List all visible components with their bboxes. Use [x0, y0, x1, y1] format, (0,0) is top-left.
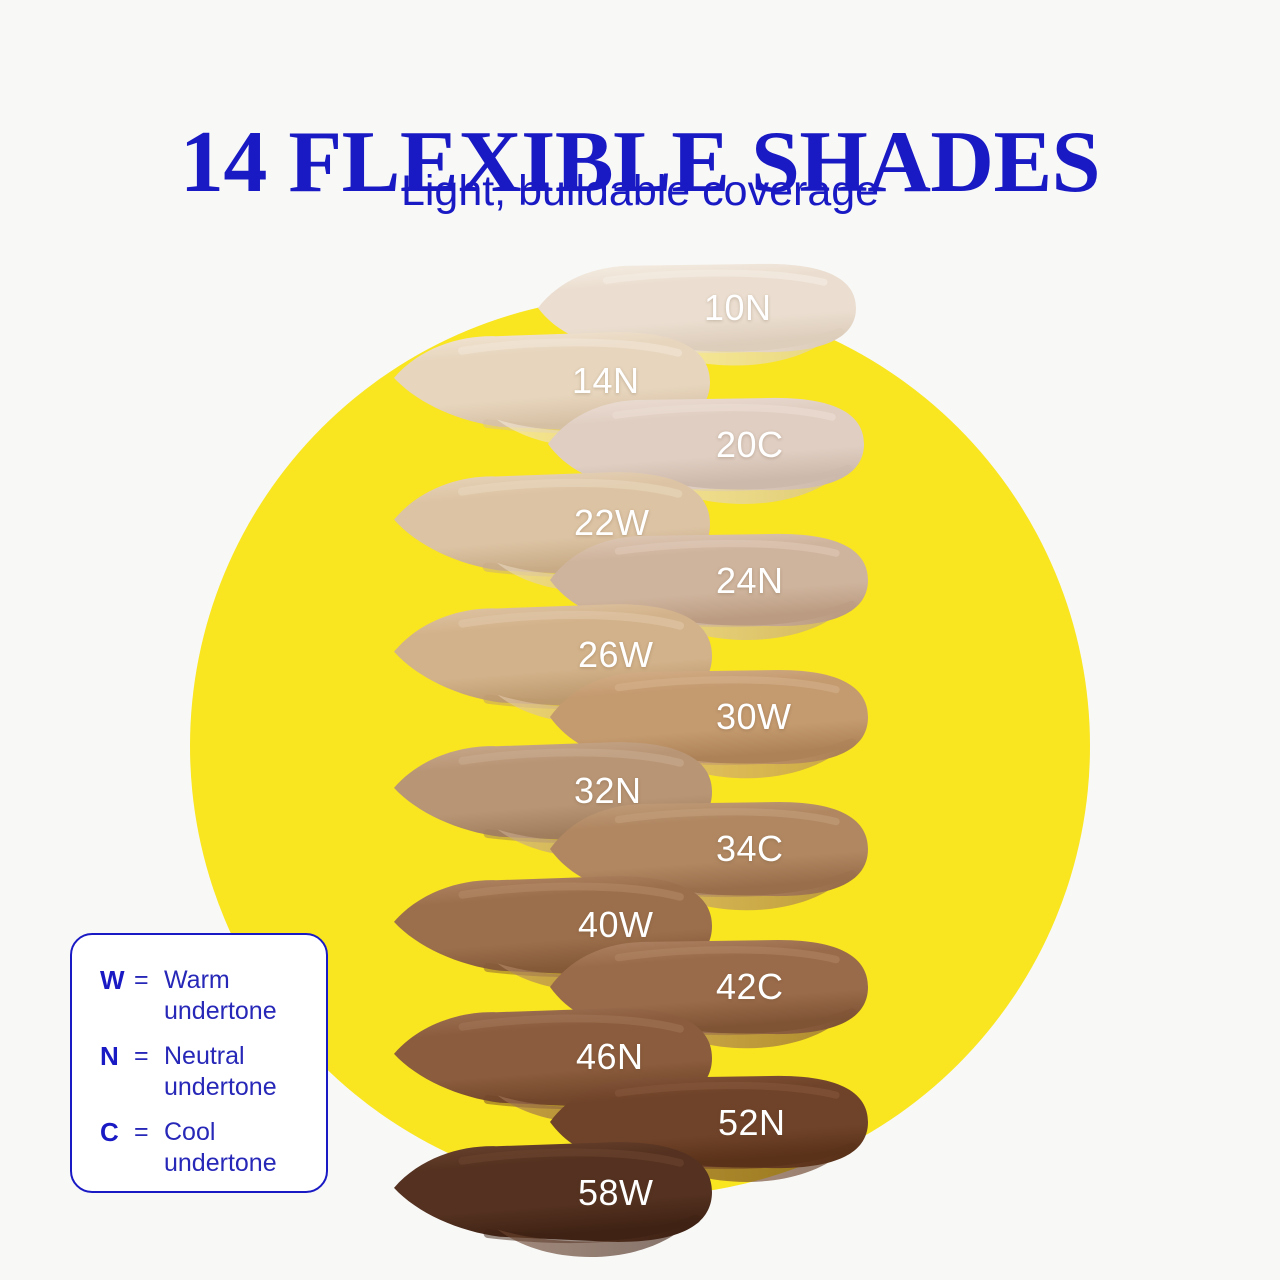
legend-key-w: W [100, 965, 126, 995]
legend-equals-sign: = [126, 1117, 158, 1147]
shade-label-24n: 24N [716, 560, 784, 602]
shade-label-46n: 46N [576, 1036, 644, 1078]
shade-label-52n: 52N [718, 1102, 786, 1144]
shade-chart-graphic: 14 FLEXIBLE SHADES Light, buildable cove… [0, 0, 1280, 1280]
shade-label-42c: 42C [716, 966, 784, 1008]
legend-equals-sign: = [126, 1041, 158, 1071]
legend-row-n: N=Neutral undertone [72, 1041, 326, 1103]
shade-label-58w: 58W [578, 1172, 654, 1214]
shade-label-10n: 10N [704, 287, 772, 329]
legend-key-n: N [100, 1041, 126, 1071]
undertone-legend: W=Warm undertoneN=Neutral undertoneC=Coo… [70, 933, 328, 1193]
shade-label-30w: 30W [716, 696, 792, 738]
legend-text-c: Cool undertone [158, 1117, 326, 1179]
legend-row-c: C=Cool undertone [72, 1117, 326, 1179]
shade-swatch-58w[interactable]: 58W [392, 1140, 712, 1244]
legend-key-c: C [100, 1117, 126, 1147]
shade-label-34c: 34C [716, 828, 784, 870]
shade-label-20c: 20C [716, 424, 784, 466]
legend-text-w: Warm undertone [158, 965, 326, 1027]
legend-equals-sign: = [126, 965, 158, 995]
legend-text-n: Neutral undertone [158, 1041, 326, 1103]
page-subtitle: Light, buildable coverage [0, 166, 1280, 218]
legend-row-w: W=Warm undertone [72, 965, 326, 1027]
